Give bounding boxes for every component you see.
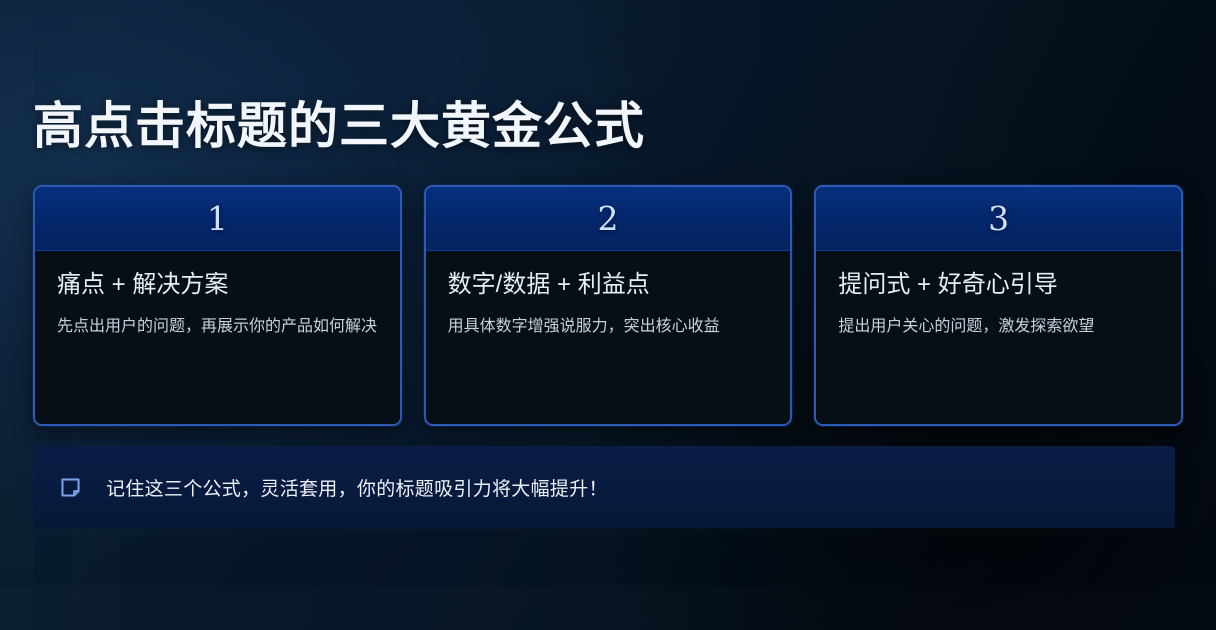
card-body-1: 痛点 + 解决方案 先点出用户的问题，再展示你的产品如何解决 [35,251,400,424]
card-number-3: 3 [988,202,1009,235]
card-number-2: 2 [598,202,619,235]
card-body-3: 提问式 + 好奇心引导 提出用户关心的问题，激发探索欲望 [816,251,1181,424]
footer-note-bar: 记住这三个公式，灵活套用，你的标题吸引力将大幅提升！ [33,446,1175,528]
card-body-2: 数字/数据 + 利益点 用具体数字增强说服力，突出核心收益 [426,251,791,424]
card-header-2: 2 [426,187,791,251]
page-title: 高点击标题的三大黄金公式 [33,97,645,156]
card-title-2: 数字/数据 + 利益点 [448,271,769,300]
card-title-1: 痛点 + 解决方案 [57,271,378,300]
formula-card-2[interactable]: 2 数字/数据 + 利益点 用具体数字增强说服力，突出核心收益 [424,185,793,426]
card-number-1: 1 [207,202,228,235]
formula-card-list: 1 痛点 + 解决方案 先点出用户的问题，再展示你的产品如何解决 2 数字/数据… [33,185,1183,426]
card-description-3: 提出用户关心的问题，激发探索欲望 [838,314,1158,339]
formula-card-1[interactable]: 1 痛点 + 解决方案 先点出用户的问题，再展示你的产品如何解决 [33,185,402,426]
formula-card-3[interactable]: 3 提问式 + 好奇心引导 提出用户关心的问题，激发探索欲望 [814,185,1183,426]
card-header-1: 1 [35,187,400,251]
slide-canvas: 高点击标题的三大黄金公式 1 痛点 + 解决方案 先点出用户的问题，再展示你的产… [0,0,1216,630]
footer-note-text: 记住这三个公式，灵活套用，你的标题吸引力将大幅提升！ [106,474,608,501]
card-description-1: 先点出用户的问题，再展示你的产品如何解决 [57,314,377,339]
sticky-note-icon [59,476,82,499]
card-title-3: 提问式 + 好奇心引导 [838,271,1159,300]
card-header-3: 3 [816,187,1181,251]
card-description-2: 用具体数字增强说服力，突出核心收益 [448,314,768,339]
